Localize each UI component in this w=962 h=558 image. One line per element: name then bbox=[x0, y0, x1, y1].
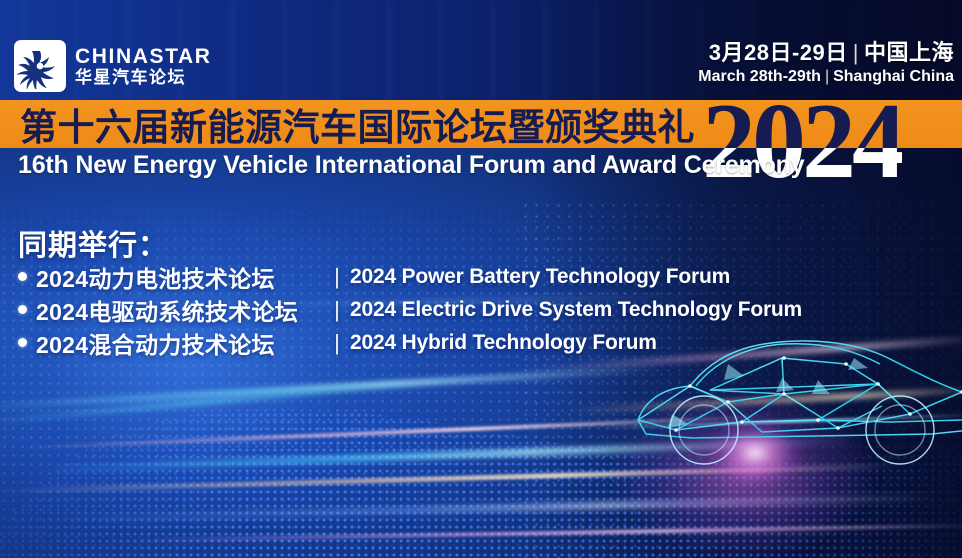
date-location-block: 3月28日-29日|中国上海 March 28th-29th|Shanghai … bbox=[698, 40, 954, 86]
date-english-separator: | bbox=[821, 68, 833, 85]
forum-chinese-name: 2024混合动力技术论坛 bbox=[36, 326, 324, 360]
date-chinese-separator: | bbox=[848, 40, 864, 65]
forum-divider: | bbox=[324, 264, 350, 290]
forum-english-name: 2024 Power Battery Technology Forum bbox=[350, 265, 730, 289]
date-chinese-line: 3月28日-29日|中国上海 bbox=[698, 40, 954, 65]
date-chinese: 3月28日-29日 bbox=[709, 40, 848, 65]
page-title-english: 16th New Energy Vehicle International Fo… bbox=[18, 148, 804, 182]
date-english: March 28th-29th bbox=[698, 68, 821, 85]
bullet-icon bbox=[18, 338, 27, 347]
forum-divider: | bbox=[324, 330, 350, 356]
location-chinese: 中国上海 bbox=[864, 40, 954, 65]
bullet-icon bbox=[18, 305, 27, 314]
page-title-chinese: 第十六届新能源汽车国际论坛暨颁奖典礼 bbox=[20, 100, 695, 148]
chinastar-logo[interactable]: CHINASTAR 华星汽车论坛 bbox=[14, 40, 212, 92]
list-item: 2024动力电池技术论坛 | 2024 Power Battery Techno… bbox=[18, 262, 802, 291]
wireframe-electric-car-illustration bbox=[632, 302, 962, 512]
date-english-line: March 28th-29th|Shanghai China bbox=[698, 67, 954, 86]
logo-chinese-text: 华星汽车论坛 bbox=[75, 69, 212, 86]
forum-divider: | bbox=[324, 297, 350, 323]
chinastar-star-burst-icon bbox=[14, 40, 66, 92]
forum-english-name: 2024 Hybrid Technology Forum bbox=[350, 331, 657, 355]
forum-chinese-name: 2024动力电池技术论坛 bbox=[36, 260, 324, 294]
concurrent-heading: 同期举行： bbox=[18, 222, 168, 264]
location-english: Shanghai China bbox=[833, 68, 954, 85]
bullet-icon bbox=[18, 272, 27, 281]
logo-english-text: CHINASTAR bbox=[75, 46, 212, 67]
event-banner: CHINASTAR 华星汽车论坛 3月28日-29日|中国上海 March 28… bbox=[0, 0, 962, 558]
forum-chinese-name: 2024电驱动系统技术论坛 bbox=[36, 293, 324, 327]
